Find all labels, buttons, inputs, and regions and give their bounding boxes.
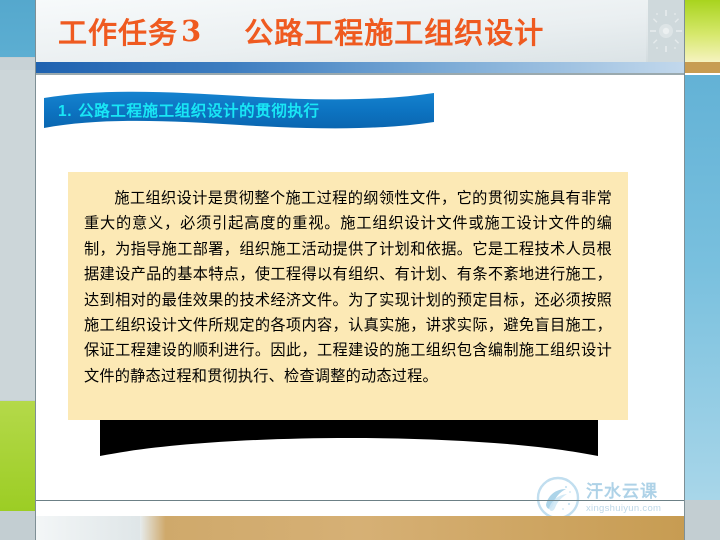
content-paragraph: 施工组织设计是贯彻整个施工过程的纲领性文件，它的贯彻实施具有非常重大的意义，必须… [84,186,612,389]
section-banner-label: 1.公路工程施工组织设计的贯彻执行 [58,99,428,121]
right-rail-foot-block [684,500,720,540]
section-label-text: 公路工程施工组织设计的贯彻执行 [78,103,320,120]
page-title-main: 工作任务 [58,10,178,52]
left-rail-foot-block [0,511,36,540]
header-sparkle-decoration [648,0,684,62]
left-rail-divider [0,58,36,70]
right-rail-blue-block [684,75,720,500]
left-rail-edge-line [35,0,36,540]
bottom-band-left-block [36,516,140,540]
left-rail-green-block [0,401,36,511]
header-rule [36,62,684,73]
wave-logo-icon [536,476,580,520]
page-title-number: 3 [178,14,244,48]
black-arc-shape [100,420,598,468]
watermark-brand: 汗水云课 [586,483,661,500]
watermark: 汗水云课 xingshuiyun.com [536,474,684,522]
left-rail-body-block [0,70,36,400]
right-rail-tan-block [684,62,720,73]
page-title: 工作任务 3 公路工程施工组织设计 [36,0,636,62]
watermark-text: 汗水云课 xingshuiyun.com [586,483,661,514]
bottom-rule [36,500,684,501]
page-title-subject: 公路工程施工组织设计 [244,10,544,52]
left-rail-blue-block [0,0,36,57]
section-number: 1. [58,103,78,120]
right-rail-green-block [684,0,720,62]
watermark-url: xingshuiyun.com [586,504,661,514]
slide: 工作任务 3 公路工程施工组织设计 1.公路工程施工组织设计的贯彻执行 施工组织… [0,0,720,540]
right-rail-edge-line [684,0,685,540]
content-box: 施工组织设计是贯彻整个施工过程的纲领性文件，它的贯彻实施具有非常重大的意义，必须… [68,172,628,420]
